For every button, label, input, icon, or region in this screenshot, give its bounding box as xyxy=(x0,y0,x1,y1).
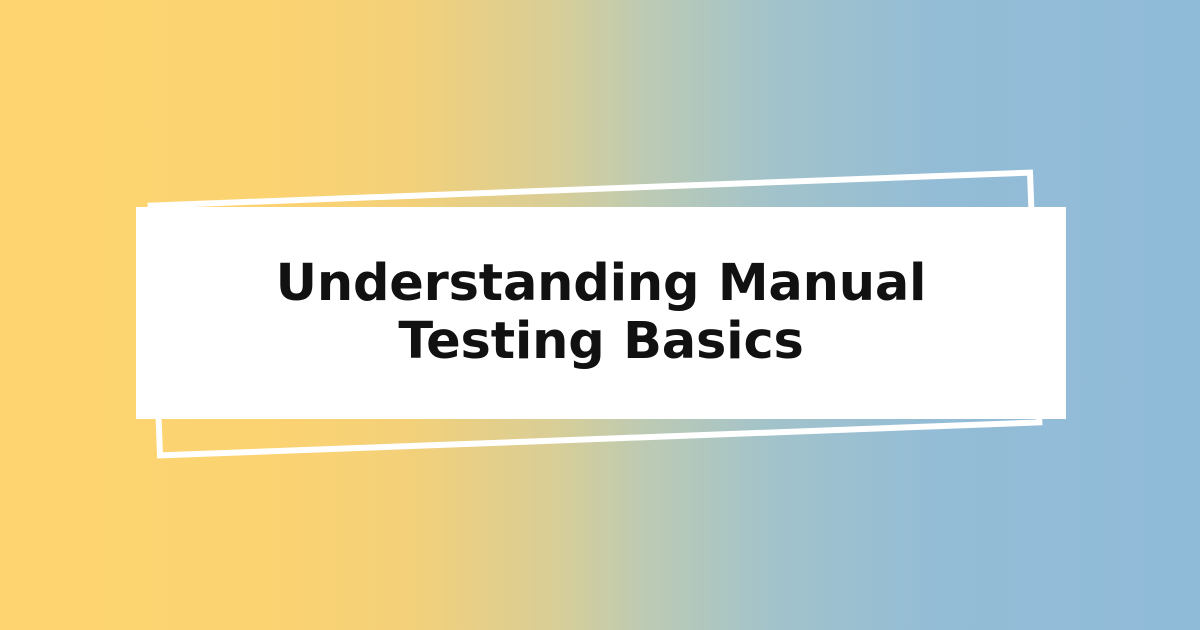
share-card-stage: Understanding Manual Testing Basics xyxy=(0,0,1200,630)
title-card: Understanding Manual Testing Basics xyxy=(136,207,1066,419)
page-title: Understanding Manual Testing Basics xyxy=(201,255,1001,371)
